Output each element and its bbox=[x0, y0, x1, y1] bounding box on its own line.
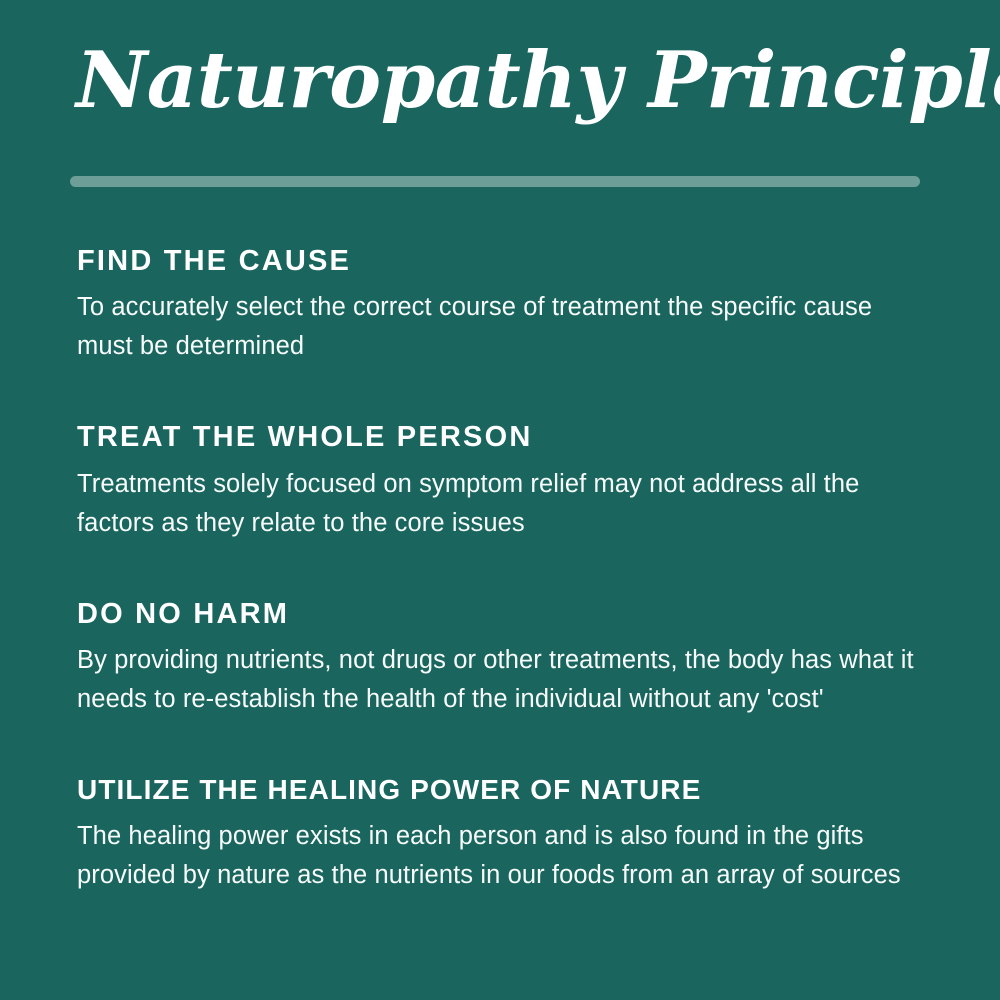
principle-body: By providing nutrients, not drugs or oth… bbox=[77, 641, 922, 719]
naturopathy-principles-poster: Naturopathy Principles FIND THE CAUSE To… bbox=[0, 0, 1000, 1000]
principle-heading: FIND THE CAUSE bbox=[77, 246, 937, 276]
principle-item-treat-the-whole-person: TREAT THE WHOLE PERSON Treatments solely… bbox=[77, 422, 937, 542]
page-title: Naturopathy Principles bbox=[76, 42, 936, 120]
principle-body: Treatments solely focused on symptom rel… bbox=[77, 465, 922, 543]
title-divider bbox=[70, 176, 920, 187]
principle-item-find-the-cause: FIND THE CAUSE To accurately select the … bbox=[77, 246, 937, 366]
principle-body: To accurately select the correct course … bbox=[77, 288, 922, 366]
principle-heading: UTILIZE THE HEALING POWER OF NATURE bbox=[77, 775, 937, 804]
principles-list: FIND THE CAUSE To accurately select the … bbox=[77, 246, 937, 895]
principle-item-utilize-the-healing-power-of-nature: UTILIZE THE HEALING POWER OF NATURE The … bbox=[77, 775, 937, 894]
principle-heading: DO NO HARM bbox=[77, 599, 937, 629]
principle-body: The healing power exists in each person … bbox=[77, 817, 922, 895]
principle-item-do-no-harm: DO NO HARM By providing nutrients, not d… bbox=[77, 599, 937, 719]
principle-heading: TREAT THE WHOLE PERSON bbox=[77, 422, 937, 452]
